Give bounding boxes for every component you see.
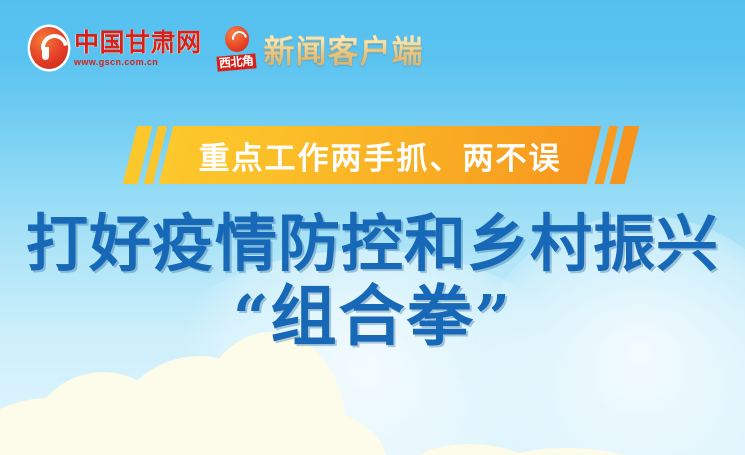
xibeijiao-stamp-label: 西北角 (217, 53, 257, 71)
quote-close: ” (475, 281, 513, 354)
xibeijiao-swirl-shape (225, 26, 249, 52)
gscn-swirl-icon (30, 27, 68, 69)
cream-cloud-puff-f (0, 430, 260, 455)
cream-cloud-puff-right-1 (410, 444, 530, 455)
cream-cloud-puff-e (146, 400, 386, 455)
quote-open: “ (233, 281, 271, 354)
xibeijiao-swirl-icon: 西北角 (216, 26, 258, 70)
logo-bar: 中国甘肃网 www.gscn.com.cn 西北角 新闻客户端 (30, 22, 424, 74)
page-title: 打好疫情防控和乡村振兴 “组合拳” (0, 212, 745, 351)
gscn-wordmark: 中国甘肃网 www.gscn.com.cn (74, 30, 202, 67)
headline-line-1: 打好疫情防控和乡村振兴 (0, 212, 745, 275)
cream-cloud-puff-right-2 (492, 448, 642, 455)
logo-gscn[interactable]: 中国甘肃网 www.gscn.com.cn (30, 27, 202, 69)
cream-cloud-puff-c (112, 356, 287, 455)
cream-cloud-puff-a (0, 398, 140, 455)
gscn-url: www.gscn.com.cn (74, 58, 202, 67)
headline-line-2: “组合拳” (0, 283, 745, 350)
news-client-wordmark: 新闻客户端 (264, 26, 424, 71)
headline-keyword: 组合拳 (271, 278, 475, 355)
cream-cloud-base (0, 440, 380, 455)
ribbon-label: 重点工作两手抓、两不误 (166, 126, 594, 184)
ribbon-banner: 重点工作两手抓、两不误 (0, 126, 745, 190)
gscn-name: 中国甘肃网 (74, 30, 202, 55)
poster-canvas: 中国甘肃网 www.gscn.com.cn 西北角 新闻客户端 重点工作两手抓、… (0, 0, 745, 455)
cream-cloud-puff-b (28, 372, 178, 455)
logo-xibeijiao[interactable]: 西北角 新闻客户端 (216, 26, 424, 71)
